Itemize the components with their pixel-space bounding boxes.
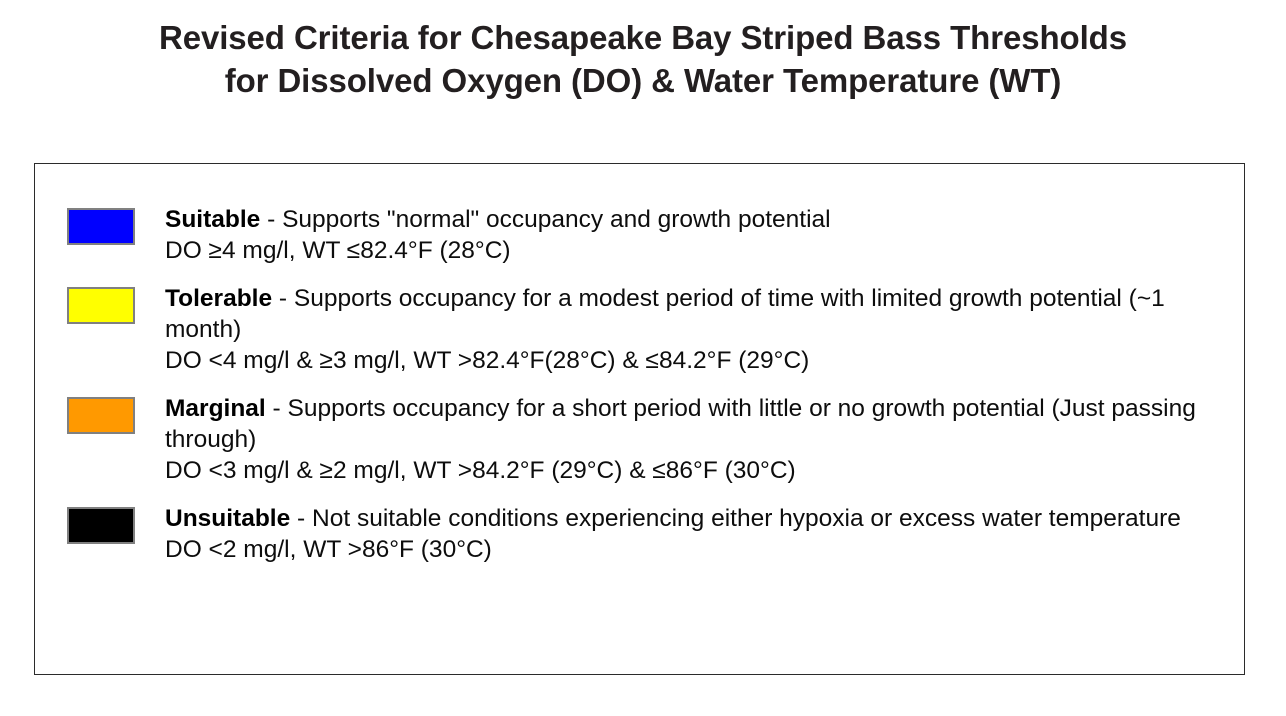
legend-entry-unsuitable-summary: Unsuitable - Not suitable conditions exp… — [165, 503, 1223, 534]
legend-entry-suitable-text: Suitable - Supports "normal" occupancy a… — [165, 204, 1223, 266]
legend-entry-marginal-detail: DO <3 mg/l & ≥2 mg/l, WT >84.2°F (29°C) … — [165, 455, 1223, 486]
page-title-line-2: for Dissolved Oxygen (DO) & Water Temper… — [0, 59, 1286, 102]
legend-entry-tolerable-text: Tolerable - Supports occupancy for a mod… — [165, 283, 1223, 376]
legend-entry-tolerable-term: Tolerable — [165, 285, 272, 312]
page-title-line-1: Revised Criteria for Chesapeake Bay Stri… — [0, 16, 1286, 59]
legend-entry-marginal-summary: Marginal - Supports occupancy for a shor… — [165, 393, 1223, 455]
legend-entry-unsuitable: Unsuitable - Not suitable conditions exp… — [67, 503, 1234, 565]
page-title: Revised Criteria for Chesapeake Bay Stri… — [0, 16, 1286, 102]
tolerable-color-swatch — [67, 287, 135, 324]
legend-entry-tolerable-summary: Tolerable - Supports occupancy for a mod… — [165, 283, 1223, 345]
unsuitable-color-swatch — [67, 507, 135, 544]
legend-entry-unsuitable-description: - Not suitable conditions experiencing e… — [290, 505, 1181, 532]
suitable-color-swatch — [67, 208, 135, 245]
legend-entry-unsuitable-term: Unsuitable — [165, 505, 290, 532]
marginal-color-swatch — [67, 397, 135, 434]
legend-entry-marginal: Marginal - Supports occupancy for a shor… — [67, 393, 1234, 486]
legend-entry-marginal-text: Marginal - Supports occupancy for a shor… — [165, 393, 1223, 486]
legend-entry-suitable: Suitable - Supports "normal" occupancy a… — [67, 204, 1234, 266]
legend-entry-suitable-term: Suitable — [165, 206, 260, 233]
legend-entry-suitable-description: - Supports "normal" occupancy and growth… — [260, 206, 830, 233]
legend-entry-unsuitable-text: Unsuitable - Not suitable conditions exp… — [165, 503, 1223, 565]
legend-entry-tolerable-description: - Supports occupancy for a modest period… — [165, 285, 1165, 343]
criteria-legend-list: Suitable - Supports "normal" occupancy a… — [67, 204, 1234, 565]
legend-entry-marginal-term: Marginal — [165, 395, 266, 422]
legend-entry-tolerable: Tolerable - Supports occupancy for a mod… — [67, 283, 1234, 376]
legend-entry-suitable-summary: Suitable - Supports "normal" occupancy a… — [165, 204, 1223, 235]
legend-entry-marginal-description: - Supports occupancy for a short period … — [165, 395, 1196, 453]
legend-entry-suitable-detail: DO ≥4 mg/l, WT ≤82.4°F (28°C) — [165, 235, 1223, 266]
legend-entry-unsuitable-detail: DO <2 mg/l, WT >86°F (30°C) — [165, 534, 1223, 565]
criteria-legend-box: Suitable - Supports "normal" occupancy a… — [34, 163, 1245, 675]
legend-entry-tolerable-detail: DO <4 mg/l & ≥3 mg/l, WT >82.4°F(28°C) &… — [165, 345, 1223, 376]
